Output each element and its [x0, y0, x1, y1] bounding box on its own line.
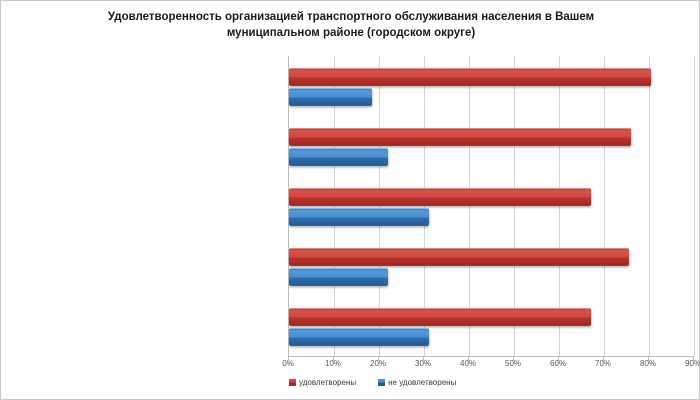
legend-swatch-blue-icon	[378, 379, 385, 386]
plot-area: графиком движения транспорта (ожиданием …	[288, 56, 694, 357]
gridline	[694, 56, 695, 356]
x-axis-tick-mark	[558, 357, 559, 361]
x-axis-tick-mark	[603, 357, 604, 361]
chart-title-line-2: муниципальном районе (городском округе)	[61, 25, 641, 41]
bar-satisfied	[289, 188, 591, 206]
bar-unsatisfied	[289, 208, 429, 226]
bar-unsatisfied	[289, 328, 429, 346]
chart-legend: удовлетворены не удовлетворены	[288, 378, 694, 387]
legend-entry-unsatisfied: не удовлетворены	[378, 378, 456, 387]
category-group: местоположением остановочных пунктов	[289, 188, 694, 225]
legend-swatch-red-icon	[289, 379, 296, 386]
bar-unsatisfied	[289, 148, 388, 166]
legend-label-satisfied: удовлетворены	[299, 378, 356, 387]
category-group: схемой организации маршрутов	[289, 128, 694, 165]
x-axis-tick-mark	[693, 357, 694, 361]
category-group: качеством работы водителей	[289, 308, 694, 345]
bar-satisfied	[289, 248, 629, 266]
bar-satisfied	[289, 68, 651, 86]
category-group: техническим состоянием транспортных сред…	[289, 248, 694, 285]
chart-title: Удовлетворенность организацией транспорт…	[61, 9, 641, 41]
x-axis-tick-mark	[468, 357, 469, 361]
bar-chart: Удовлетворенность организацией транспорт…	[0, 0, 700, 400]
bar-satisfied	[289, 308, 591, 326]
x-axis-tick-mark	[288, 357, 289, 361]
legend-label-unsatisfied: не удовлетворены	[388, 378, 456, 387]
x-axis-tick-mark	[333, 357, 334, 361]
bar-unsatisfied	[289, 88, 372, 106]
bar-satisfied	[289, 128, 631, 146]
bar-unsatisfied	[289, 268, 388, 286]
legend-entry-satisfied: удовлетворены	[289, 378, 356, 387]
x-axis-tick-mark	[378, 357, 379, 361]
x-axis-tick-mark	[513, 357, 514, 361]
category-group: графиком движения транспорта (ожиданием …	[289, 68, 694, 105]
x-axis-tick-mark	[648, 357, 649, 361]
chart-title-line-1: Удовлетворенность организацией транспорт…	[61, 9, 641, 25]
x-axis-tick-mark	[423, 357, 424, 361]
x-axis-tick-labels: 0%10%20%30%40%50%60%70%80%90%	[288, 359, 693, 373]
